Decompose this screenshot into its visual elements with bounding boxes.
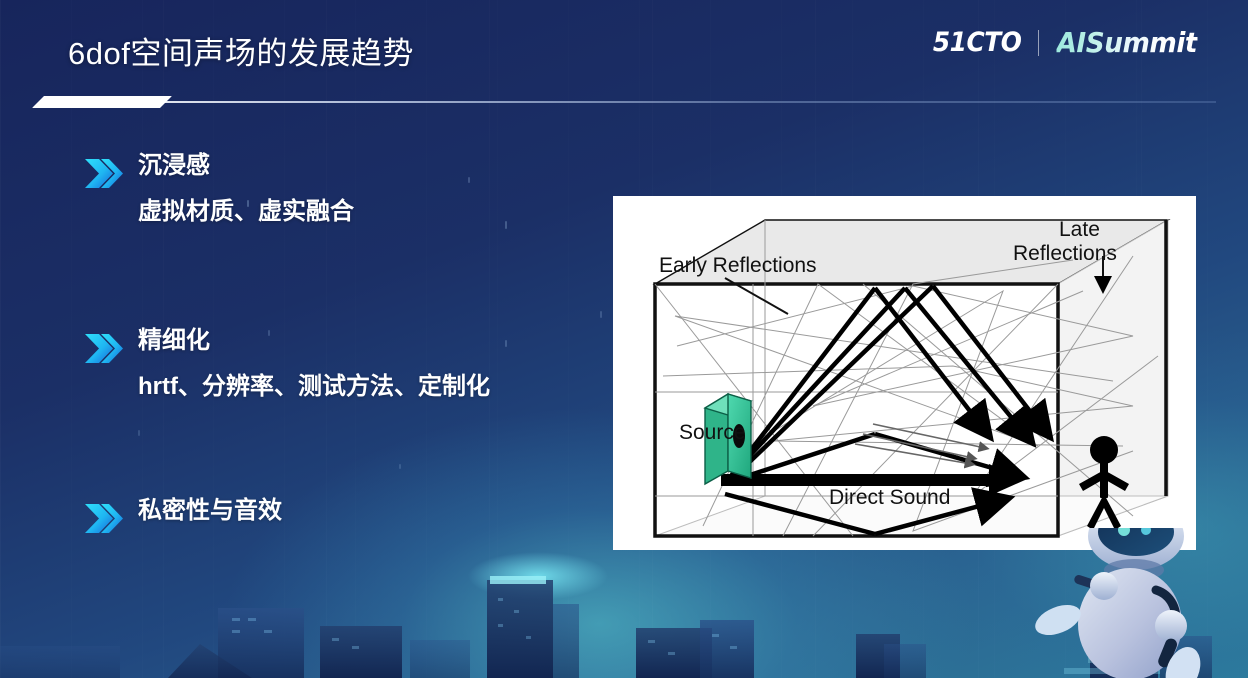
brand-logo: 51CTO AISummit [929, 26, 1202, 59]
logo-separator [1038, 30, 1040, 56]
robot-mascot [1028, 528, 1238, 678]
title-divider [32, 96, 1216, 108]
list-item-heading: 精细化 [138, 325, 490, 357]
particle [468, 177, 470, 183]
list-item-subtext: hrtf、分辨率、测试方法、定制化 [138, 371, 490, 403]
chevron-right-icon [84, 158, 124, 189]
room-acoustics-diagram: Early Reflections Late Reflections Sourc… [613, 196, 1196, 550]
chevron-right-icon [84, 333, 124, 364]
chevron-right-icon [84, 503, 124, 534]
particle [505, 221, 507, 229]
particle [505, 340, 507, 347]
slide: 6dof空间声场的发展趋势 51CTO AISummit [0, 0, 1248, 678]
label-source: Source [679, 421, 746, 444]
list-item-subtext: 虚拟材质、虚实融合 [138, 196, 354, 228]
label-early-reflections: Early Reflections [659, 254, 817, 277]
logo-51cto-text: 51CTO [933, 27, 1022, 58]
divider-chip [32, 96, 172, 108]
list-item: 沉浸感 虚拟材质、虚实融合 [84, 150, 354, 228]
label-late-reflections-line1: Late [1059, 218, 1100, 241]
list-item: 精细化 hrtf、分辨率、测试方法、定制化 [84, 325, 490, 403]
page-title: 6dof空间声场的发展趋势 [68, 34, 414, 74]
label-late-reflections-line2: Reflections [1013, 242, 1117, 265]
particle [138, 430, 140, 436]
list-item: 私密性与音效 [84, 495, 282, 527]
particle [600, 311, 602, 318]
list-item-heading: 沉浸感 [138, 150, 354, 182]
label-direct-sound: Direct Sound [829, 486, 950, 509]
list-item-heading: 私密性与音效 [138, 495, 282, 527]
divider-line [90, 101, 1216, 103]
logo-aisummit-text: AISummit [1057, 26, 1198, 59]
particle [399, 464, 401, 469]
